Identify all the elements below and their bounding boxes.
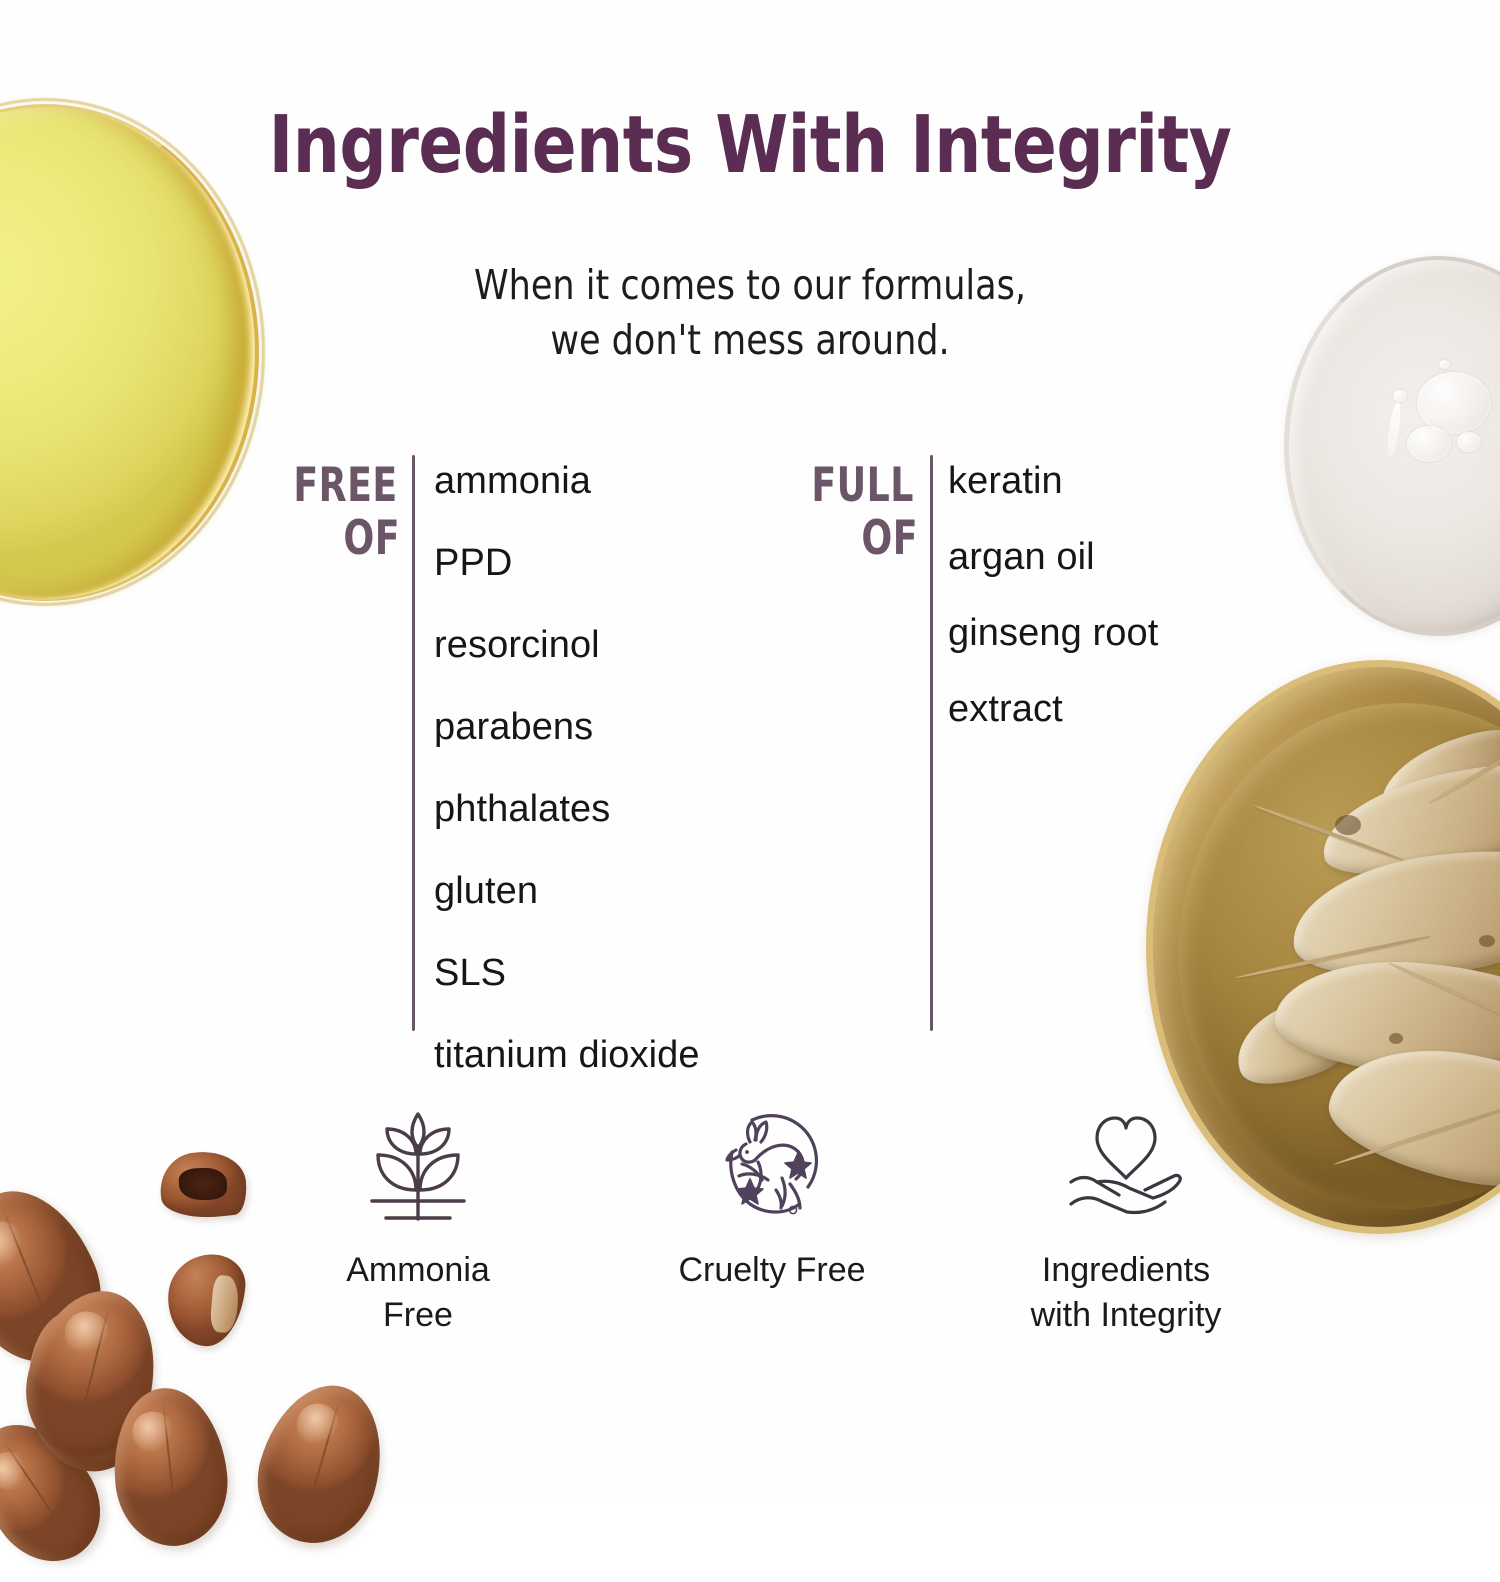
list-item: keratin xyxy=(948,452,1158,528)
root-node xyxy=(1479,935,1495,947)
ginseng-rootlet xyxy=(1428,726,1500,804)
subtitle-line-2: we don't mess around. xyxy=(275,313,1225,368)
root-node xyxy=(1389,1033,1403,1044)
badge-label-line-1: Ammonia xyxy=(346,1248,490,1293)
ginseng-root xyxy=(1320,1030,1500,1206)
list-item: SLS xyxy=(434,944,700,1026)
gel-bubble xyxy=(1393,390,1407,402)
free-of-label-word2: OF xyxy=(293,513,400,566)
badge-ingredients-with-integrity: Ingredients with Integrity xyxy=(976,1098,1276,1338)
full-of-label: FULL OF xyxy=(811,460,918,565)
root-node xyxy=(1335,815,1361,835)
ginseng-rootlet xyxy=(1333,1104,1500,1167)
badge-ammonia-free: Ammonia Free xyxy=(268,1098,568,1338)
free-of-label-word1: FREE xyxy=(293,460,400,513)
badge-label: Cruelty Free xyxy=(678,1248,865,1293)
argan-nut xyxy=(12,1277,173,1470)
ginseng-root xyxy=(1224,980,1378,1100)
list-item: ammonia xyxy=(434,452,700,534)
ginseng-rootlet xyxy=(1253,804,1405,862)
argan-nut xyxy=(0,1170,122,1381)
list-item: PPD xyxy=(434,534,700,616)
argan-nut xyxy=(0,1402,122,1582)
certification-badges: Ammonia Free xyxy=(268,1098,1276,1388)
list-item: parabens xyxy=(434,698,700,780)
list-item-line-2: extract xyxy=(948,680,1158,756)
heart-in-hand-icon xyxy=(1055,1098,1197,1234)
ginseng-root xyxy=(1369,715,1500,831)
argan-nut xyxy=(12,1298,162,1483)
full-of-divider xyxy=(930,455,933,1031)
clear-gel-petri-dish-photo xyxy=(1284,256,1500,636)
cracked-argan-nut-shell xyxy=(157,1148,249,1223)
free-of-divider xyxy=(412,455,415,1031)
free-of-label: FREE OF xyxy=(293,460,400,565)
badge-label: Ingredients with Integrity xyxy=(1031,1248,1222,1338)
badge-cruelty-free: Cruelty Free xyxy=(622,1098,922,1293)
argan-nut xyxy=(242,1371,400,1557)
argan-nut xyxy=(106,1383,234,1552)
gel-bubble xyxy=(1407,426,1451,462)
subtitle-line-1: When it comes to our formulas, xyxy=(275,258,1225,313)
cracked-argan-nut-shell xyxy=(164,1251,248,1349)
subtitle: When it comes to our formulas, we don't … xyxy=(275,258,1225,368)
ginseng-root xyxy=(1271,953,1500,1085)
plant-sprout-icon xyxy=(352,1098,484,1234)
badge-label: Ammonia Free xyxy=(346,1248,490,1338)
list-item: titanium dioxide xyxy=(434,1026,700,1108)
gel-bubble xyxy=(1439,360,1450,369)
full-of-label-word2: OF xyxy=(811,513,918,566)
free-of-list: ammonia PPD resorcinol parabens phthalat… xyxy=(434,452,700,1108)
list-item: phthalates xyxy=(434,780,700,862)
badge-label-line-2: with Integrity xyxy=(1031,1293,1222,1338)
gel-bubble xyxy=(1457,432,1481,452)
leaping-bunny-icon xyxy=(706,1098,838,1234)
full-of-list: keratin argan oil ginseng root extract xyxy=(948,452,1158,756)
list-item: argan oil xyxy=(948,528,1158,604)
gel-bubble xyxy=(1417,372,1491,434)
badge-label-line-1: Ingredients xyxy=(1031,1248,1222,1293)
list-item: ginseng root extract xyxy=(948,604,1158,756)
ginseng-rootlet xyxy=(1235,934,1431,979)
page-title: Ingredients With Integrity xyxy=(53,106,1448,185)
badge-label-line-2: Free xyxy=(346,1293,490,1338)
list-item-line-1: ginseng root xyxy=(948,604,1158,680)
gel-highlight xyxy=(1385,402,1403,459)
full-of-label-word1: FULL xyxy=(811,460,918,513)
list-item: resorcinol xyxy=(434,616,700,698)
badge-label-line-1: Cruelty Free xyxy=(678,1248,865,1293)
ginseng-rootlet xyxy=(1387,960,1500,1049)
ginseng-root xyxy=(1284,835,1500,994)
list-item: gluten xyxy=(434,862,700,944)
ginseng-root xyxy=(1312,744,1500,894)
